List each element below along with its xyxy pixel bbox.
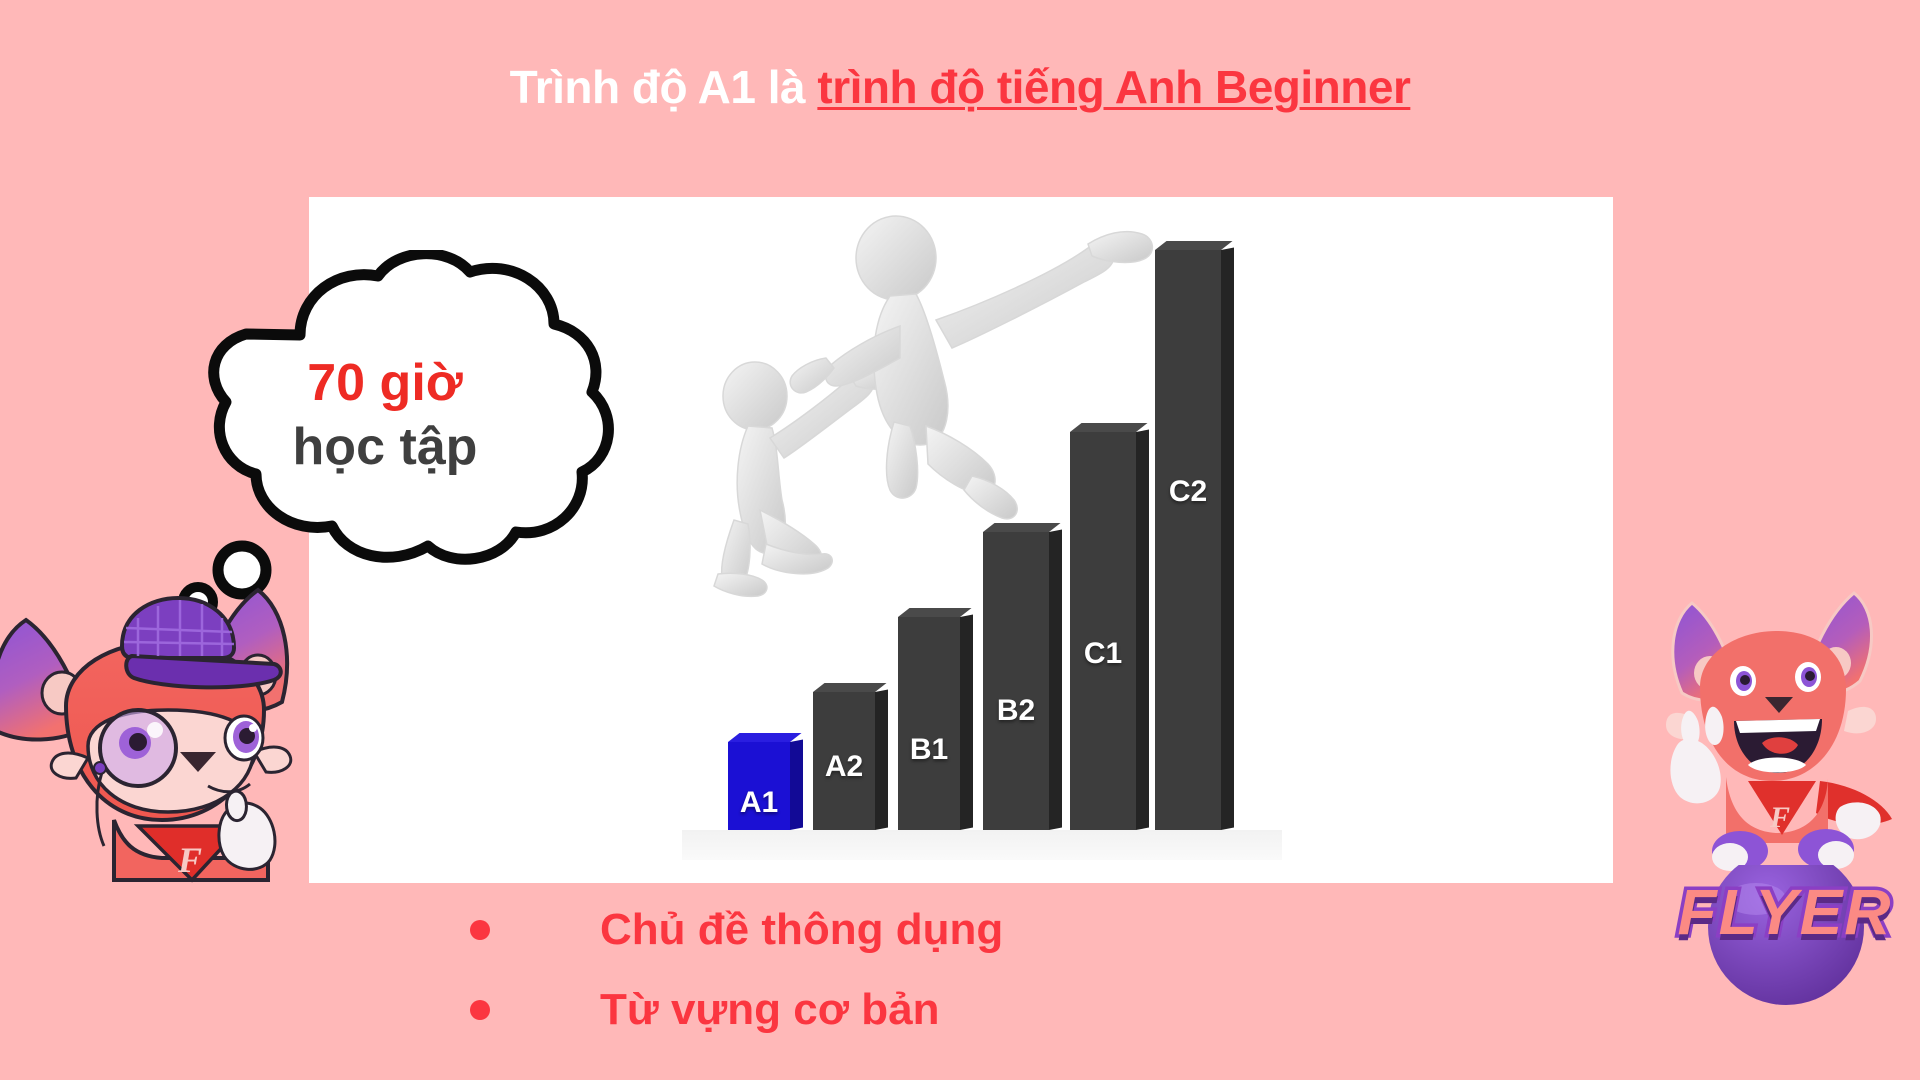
mascot-badge-letter: F — [177, 840, 202, 880]
thought-bubble-text: 70 giờ học tập — [150, 250, 620, 580]
bar-label-b1: B1 — [910, 733, 948, 767]
bar-label-a2: A2 — [825, 750, 863, 784]
bar-b2-top-face — [983, 523, 1061, 532]
mascot-badge-letter: F — [1769, 801, 1790, 834]
page-title: Trình độ A1 là trình độ tiếng Anh Beginn… — [0, 60, 1920, 114]
bar-label-a1: A1 — [740, 786, 778, 820]
bar-b2-side-face — [1049, 529, 1062, 830]
bullet-dot-icon — [470, 920, 490, 940]
bar-a1-side-face — [790, 739, 803, 830]
bar-a1: A1 — [728, 742, 790, 830]
thought-bubble-line-1: 70 giờ — [307, 357, 462, 409]
feature-bullet-list: Chủ đề thông dụng Từ vựng cơ bản — [470, 890, 1170, 1050]
thought-bubble: 70 giờ học tập — [150, 250, 620, 630]
page-title-plain: Trình độ A1 là — [510, 61, 818, 113]
list-item: Chủ đề thông dụng — [470, 890, 1170, 970]
bullet-label-2: Từ vựng cơ bản — [600, 985, 939, 1035]
page-title-highlight: trình độ tiếng Anh Beginner — [817, 61, 1410, 113]
bar-label-c1: C1 — [1084, 637, 1122, 671]
bar-b1: B1 — [898, 617, 960, 830]
cefr-level-bar-chart: A1 A2 B1 B2 C1 C2 — [700, 200, 1260, 860]
flyer-mascot: F — [1630, 585, 1920, 885]
flyer-wordmark: FLYER — [1640, 865, 1920, 1005]
bullet-label-1: Chủ đề thông dụng — [600, 905, 1003, 955]
bar-b1-side-face — [960, 614, 973, 830]
bar-label-c2: C2 — [1169, 475, 1207, 509]
bar-b1-top-face — [898, 608, 972, 617]
detective-fox-icon: F — [0, 580, 322, 910]
bar-c1: C1 — [1070, 432, 1136, 830]
flyer-mascot-icon: F — [1630, 585, 1920, 885]
bullet-dot-icon — [470, 1000, 490, 1020]
bar-c2-side-face — [1221, 247, 1234, 830]
bar-c2-top-face — [1155, 241, 1233, 250]
thought-bubble-line-2: học tập — [293, 421, 478, 473]
detective-fox-mascot: F — [0, 580, 322, 910]
bar-b2: B2 — [983, 532, 1049, 830]
bar-a1-top-face — [728, 733, 802, 742]
flyer-wordmark-text: FLYER — [1640, 875, 1920, 949]
bar-c1-top-face — [1070, 423, 1148, 432]
bar-c2: C2 — [1155, 250, 1221, 830]
list-item: Từ vựng cơ bản — [470, 970, 1170, 1050]
figure-lower — [714, 362, 901, 596]
bar-a2-side-face — [875, 689, 888, 830]
bar-c1-side-face — [1136, 429, 1149, 830]
bar-a2: A2 — [813, 692, 875, 830]
bar-a2-top-face — [813, 683, 887, 692]
bar-label-b2: B2 — [997, 694, 1035, 728]
